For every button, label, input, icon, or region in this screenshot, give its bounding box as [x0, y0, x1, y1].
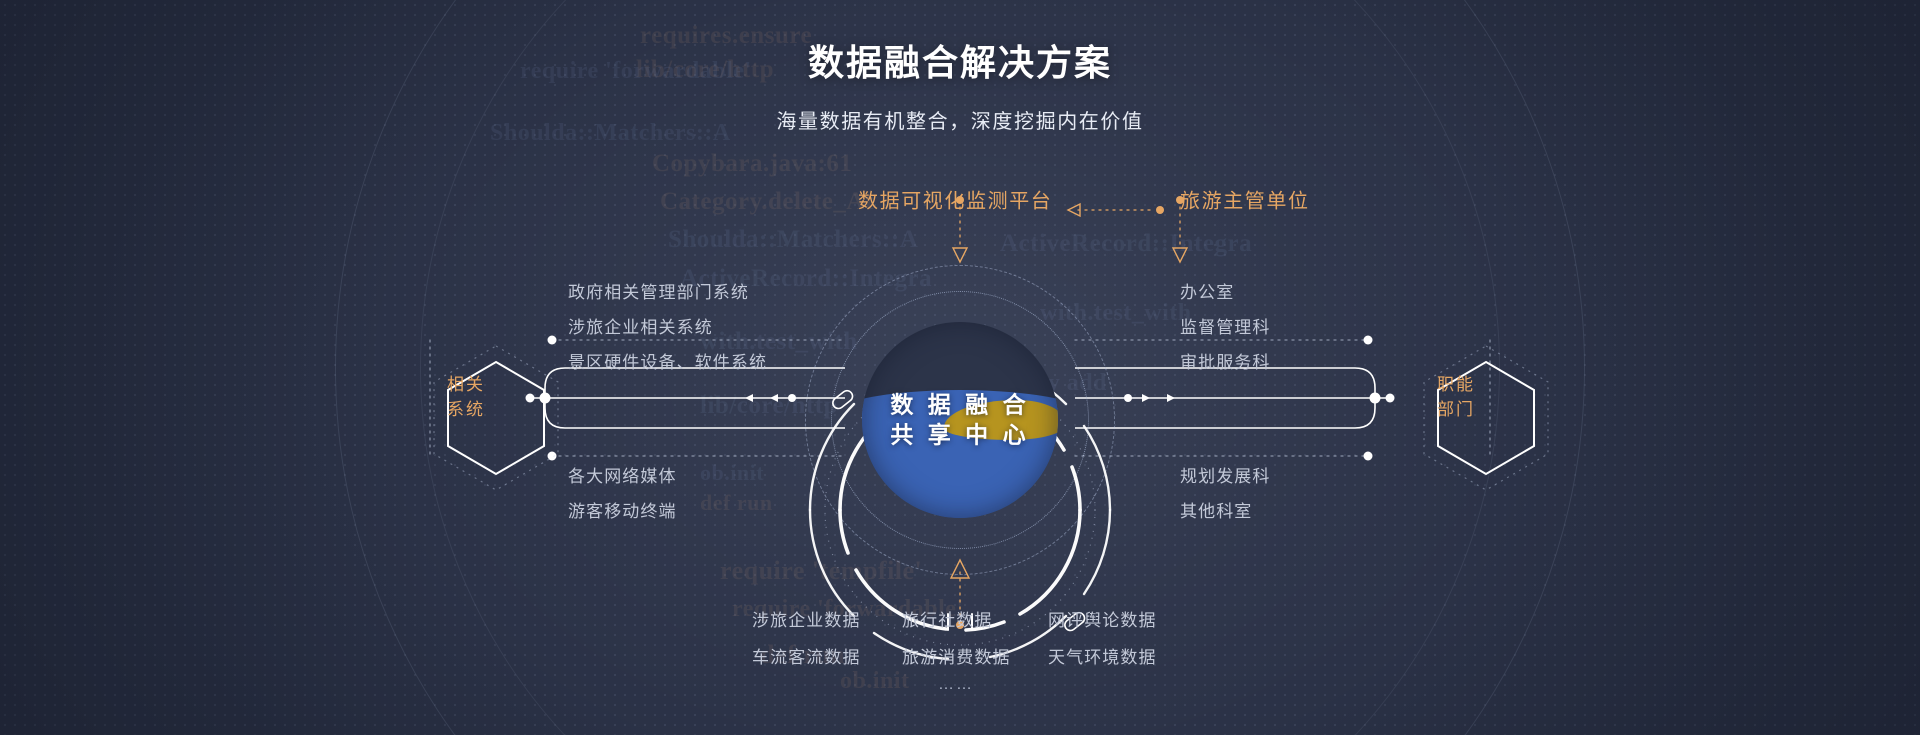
page-subtitle: 海量数据有机整合，深度挖掘内在价值 [0, 105, 1920, 134]
left-lower-item-2: 游客移动终端 [568, 497, 677, 522]
node-label-authority[interactable]: 旅游主管单位 [1180, 185, 1310, 214]
bottom-item-5: 旅游消费数据 [902, 643, 1011, 668]
hexagon-right-line1: 职能 [1437, 373, 1475, 398]
header: 数据融合解决方案 海量数据有机整合，深度挖掘内在价值 [0, 0, 1920, 134]
bottom-item-4: 车流客流数据 [752, 643, 861, 668]
left-upper-item-1: 政府相关管理部门系统 [568, 278, 749, 303]
hexagon-right[interactable]: 职能 部门 [1398, 340, 1514, 456]
right-upper-item-3: 审批服务科 [1180, 348, 1271, 373]
bottom-item-2: 旅行社数据 [902, 606, 993, 631]
right-upper-item-1: 办公室 [1180, 278, 1234, 303]
hexagon-right-line2: 部门 [1437, 398, 1475, 423]
hexagon-left-line2: 系统 [447, 398, 485, 423]
hexagon-left-label: 相关 系统 [408, 340, 524, 456]
left-upper-item-2: 涉旅企业相关系统 [568, 313, 713, 338]
diagram-stage: requires.ensure lib/core/http Copybara.j… [0, 0, 1920, 735]
left-lower-item-1: 各大网络媒体 [568, 462, 677, 487]
node-label-platform[interactable]: 数据可视化监测平台 [858, 185, 1052, 214]
left-upper-item-3: 景区硬件设备、软件系统 [568, 348, 767, 373]
bottom-item-3: 网评舆论数据 [1048, 606, 1157, 631]
bottom-more-indicator: …… [938, 676, 974, 694]
right-lower-item-1: 规划发展科 [1180, 462, 1271, 487]
right-upper-item-2: 监督管理科 [1180, 313, 1271, 338]
page-title: 数据融合解决方案 [0, 34, 1920, 86]
hexagon-right-label: 职能 部门 [1398, 340, 1514, 456]
hexagon-left-line1: 相关 [447, 373, 485, 398]
right-lower-item-2: 其他科室 [1180, 497, 1252, 522]
bottom-item-1: 涉旅企业数据 [752, 606, 861, 631]
bottom-item-6: 天气环境数据 [1048, 643, 1157, 668]
hexagon-left[interactable]: 相关 系统 [408, 340, 524, 456]
